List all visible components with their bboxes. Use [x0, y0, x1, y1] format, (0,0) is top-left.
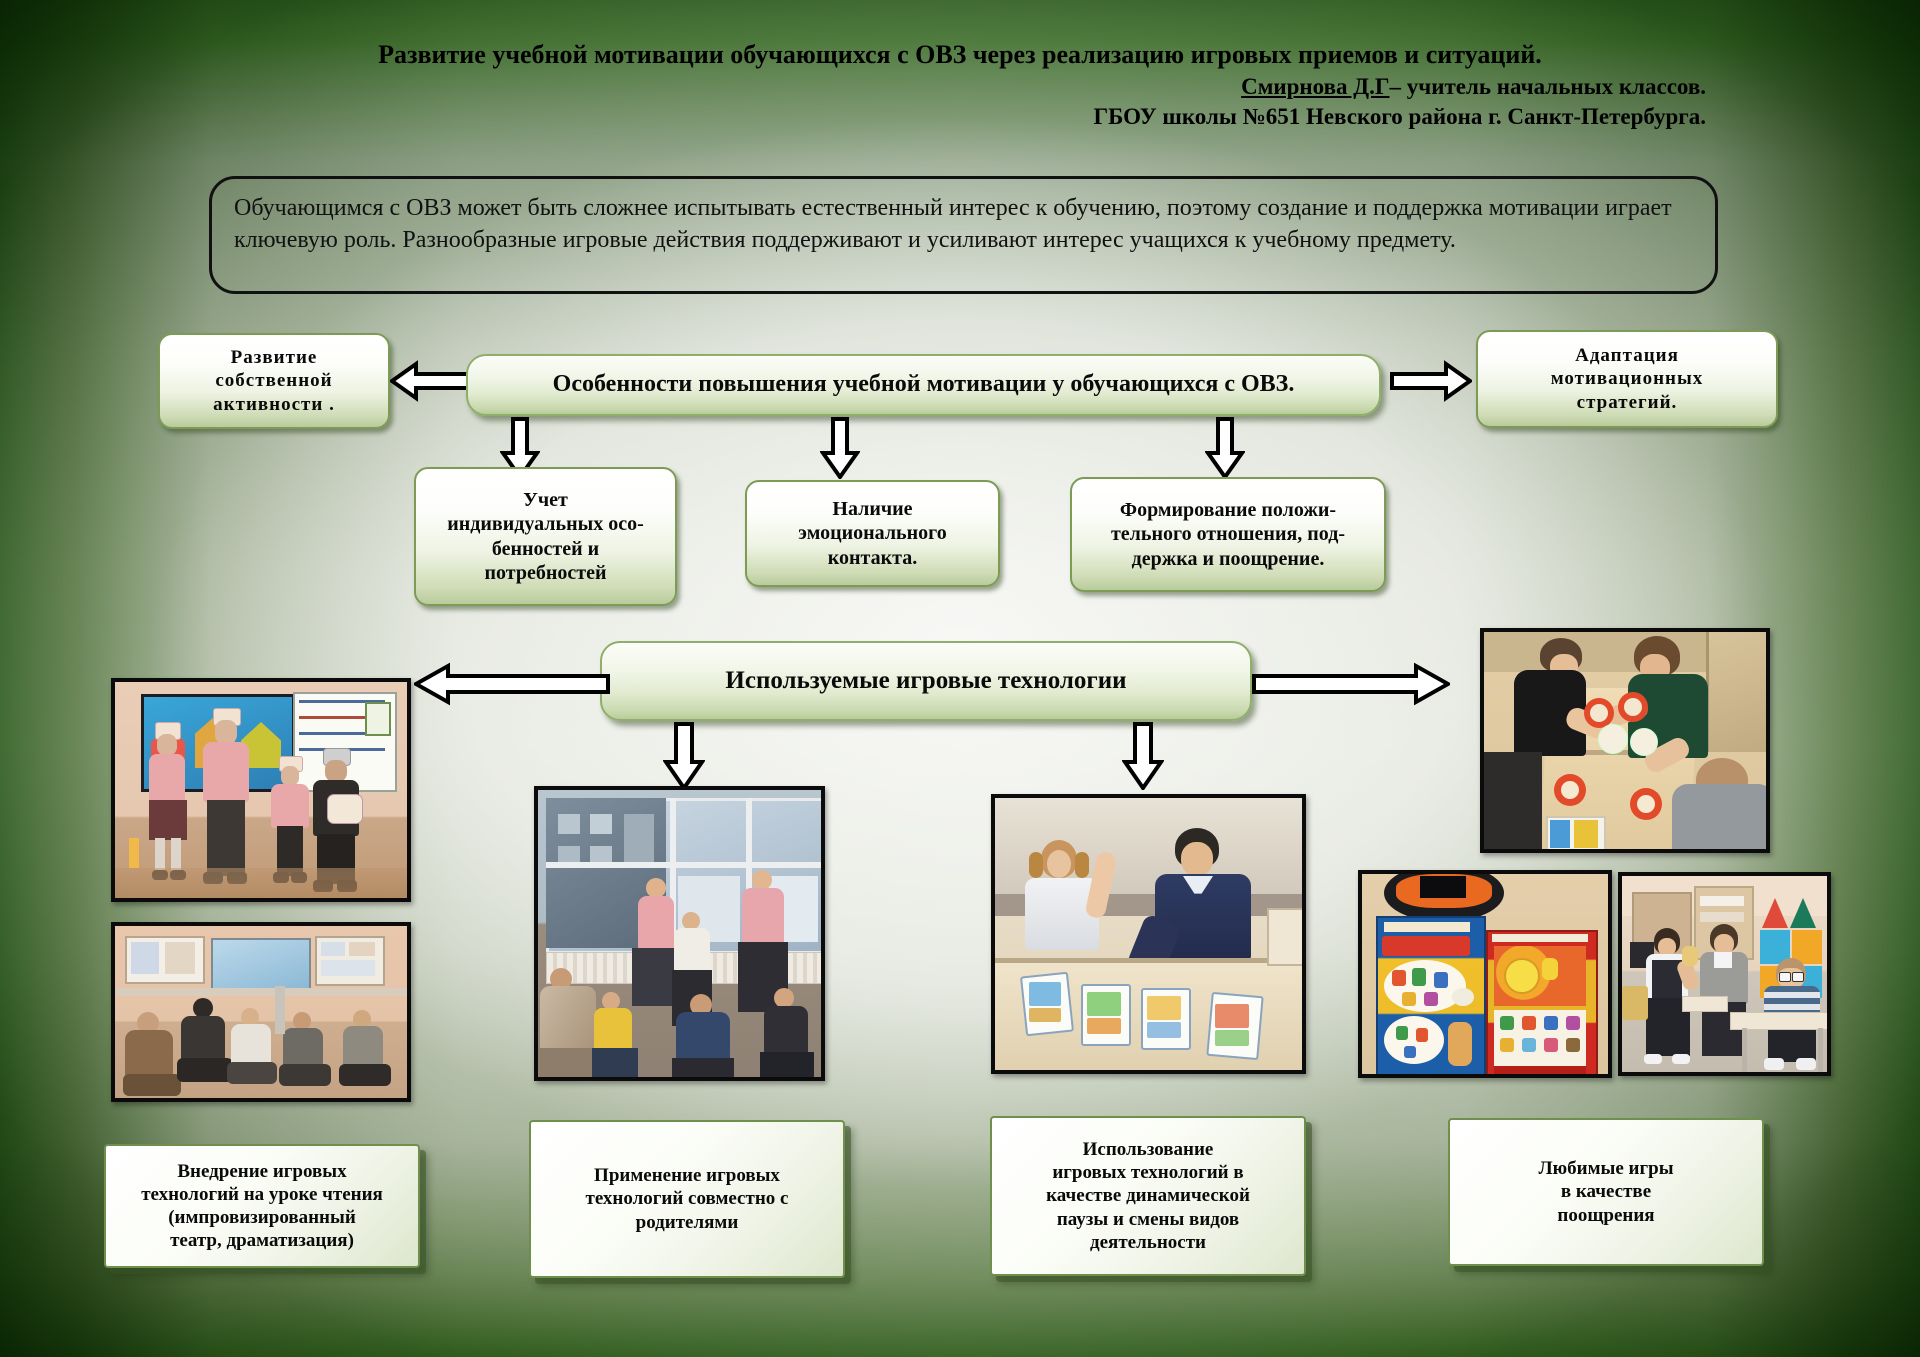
poster-title: Развитие учебной мотивации обучающихся с…: [0, 40, 1920, 70]
author-name: Смирнова Д.Г: [1241, 74, 1389, 99]
photo-classroom-floor: [111, 922, 411, 1102]
photo-theatre-masks: [111, 678, 411, 902]
caption-favorite-games: Любимые игры в качестве поощрения: [1448, 1118, 1764, 1266]
poster-stage: Развитие учебной мотивации обучающихся с…: [0, 0, 1920, 1357]
box-positive-attitude-label: Формирование положи- тельного отношения,…: [1111, 498, 1345, 571]
photo-card-game-desk: [991, 794, 1306, 1074]
caption-reading-lesson: Внедрение игровых технологий на уроке чт…: [104, 1144, 420, 1268]
box-motivation-features: Особенности повышения учебной мотивации …: [466, 354, 1381, 416]
arrow-down-2: [820, 417, 860, 479]
arrow-tech-to-right: [1248, 660, 1450, 708]
poster-author: Смирнова Д.Г– учитель начальных классов.: [0, 74, 1706, 100]
caption-with-parents: Применение игровых технологий совместно …: [529, 1120, 845, 1278]
box-individual-needs-label: Учет индивидуальных осо- бенностей и пот…: [447, 488, 644, 586]
arrow-center-to-right: [1386, 358, 1472, 404]
intro-textbox: Обучающимся с ОВЗ может быть сложнее исп…: [209, 176, 1718, 294]
arrow-tech-to-left: [414, 660, 610, 708]
caption-favorite-games-label: Любимые игры в качестве поощрения: [1538, 1157, 1673, 1227]
box-individual-needs: Учет индивидуальных осо- бенностей и пот…: [414, 467, 677, 606]
box-game-technologies: Используемые игровые технологии: [600, 641, 1252, 721]
caption-with-parents-label: Применение игровых технологий совместно …: [586, 1164, 789, 1234]
box-self-activity: Развитие собственной активности .: [158, 333, 390, 429]
poster-school: ГБОУ школы №651 Невского района г. Санкт…: [0, 104, 1706, 130]
arrow-center-to-left: [390, 358, 472, 404]
arrow-tech-down-2: [1122, 722, 1164, 790]
box-game-technologies-label: Используемые игровые технологии: [725, 666, 1126, 697]
box-emotional-contact: Наличие эмоционального контакта.: [745, 480, 1000, 587]
arrow-tech-down-1: [663, 722, 705, 790]
photo-boys-classroom: [1618, 872, 1831, 1076]
box-emotional-contact-label: Наличие эмоционального контакта.: [798, 497, 946, 570]
caption-dynamic-pause: Использование игровых технологий в качес…: [990, 1116, 1306, 1276]
author-role: – учитель начальных классов.: [1390, 74, 1707, 99]
arrow-down-3: [1205, 417, 1245, 479]
box-positive-attitude: Формирование положи- тельного отношения,…: [1070, 477, 1386, 592]
photo-board-games-boxes: [1358, 870, 1612, 1078]
photo-boys-table-game: [1480, 628, 1770, 853]
box-adaptation-strategies-label: Адаптация мотивационных стратегий.: [1551, 344, 1704, 414]
photo-parents-activity: [534, 786, 825, 1081]
caption-dynamic-pause-label: Использование игровых технологий в качес…: [1046, 1138, 1250, 1254]
box-adaptation-strategies: Адаптация мотивационных стратегий.: [1476, 330, 1778, 428]
box-self-activity-label: Развитие собственной активности .: [213, 346, 335, 416]
caption-reading-lesson-label: Внедрение игровых технологий на уроке чт…: [141, 1160, 383, 1253]
box-motivation-features-label: Особенности повышения учебной мотивации …: [553, 370, 1295, 399]
